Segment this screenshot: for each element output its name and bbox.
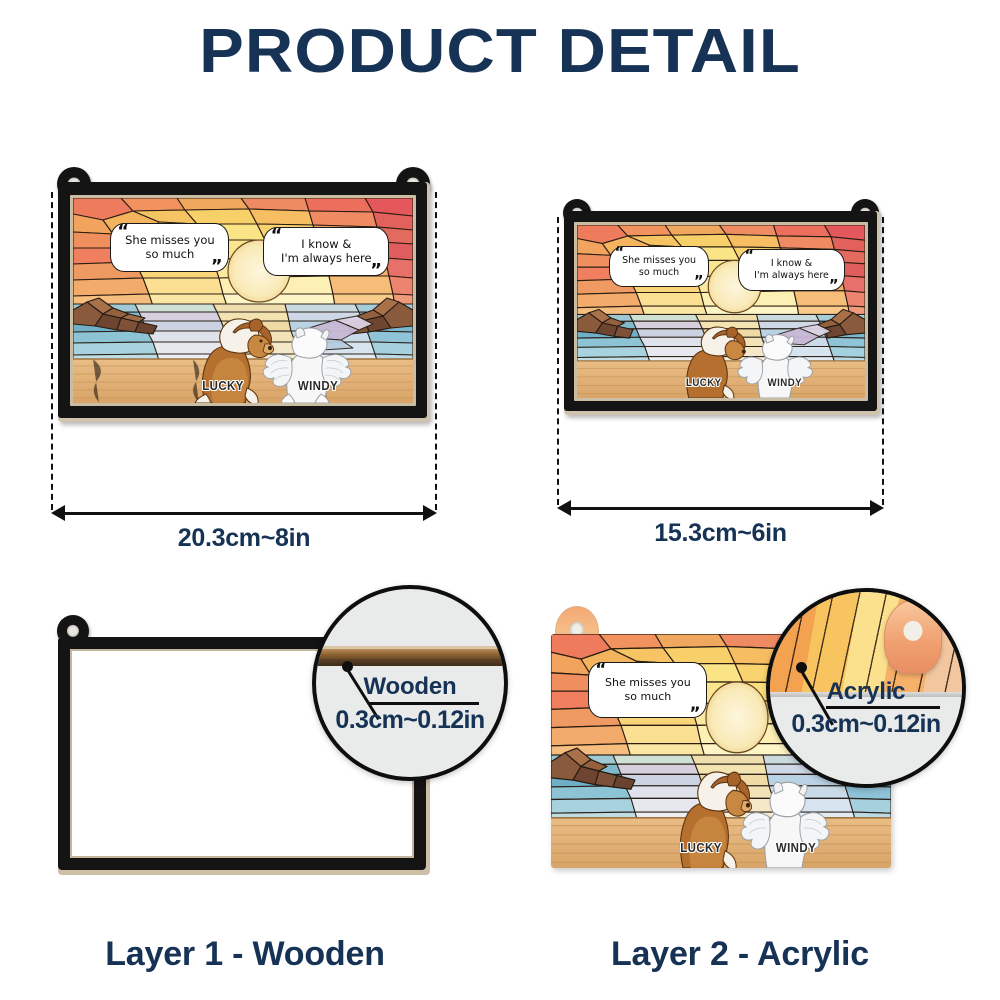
product-detail-page: PRODUCT DETAIL <box>0 0 1000 1000</box>
framed-sign-large: “ She misses you so much ” “ I know & I'… <box>58 182 430 422</box>
quote-close-right: ” <box>370 262 382 280</box>
speech-bubble-left: “ She misses you so much ” <box>110 223 229 272</box>
magnifier-acrylic-rule <box>826 706 940 709</box>
dimension-label-small: 15.3cm~6in <box>557 519 884 548</box>
quote-open-left-acrylic: “ <box>595 662 606 679</box>
speech-bubble-right-small-text: I know & I'm always here <box>748 258 835 282</box>
magnifier-acrylic-inner: Acrylic 0.3cm~0.12in <box>770 592 962 784</box>
caption-layer-1: Layer 1 - Wooden <box>60 935 430 974</box>
dimension-arrow-small: 15.3cm~6in <box>557 507 884 509</box>
caption-layer-2: Layer 2 - Acrylic <box>555 935 925 974</box>
quote-open-right-small: “ <box>744 249 754 264</box>
framed-sign-small: “ She misses you so much ” “ I know & I'… <box>564 211 880 415</box>
pet-name-lucky: LUCKY <box>193 378 253 393</box>
magnifier-wooden: Wooden 0.3cm~0.12in <box>312 585 508 781</box>
dimension-guide-left <box>51 192 53 510</box>
quote-open-right: “ <box>271 227 283 245</box>
speech-bubble-right-text: I know & I'm always here <box>274 237 379 266</box>
magnifier-wooden-inner: Wooden 0.3cm~0.12in <box>316 589 504 777</box>
magnifier-acrylic: Acrylic 0.3cm~0.12in <box>766 588 966 788</box>
quote-close-left: ” <box>211 258 223 276</box>
pet-name-windy-acrylic: WINDY <box>766 840 826 855</box>
arrow-head-left <box>51 505 65 521</box>
magnifier-wooden-label: Wooden <box>316 673 504 701</box>
quote-open-left: “ <box>117 223 129 241</box>
arrow-head-right-small <box>870 500 884 516</box>
artwork-small: “ She misses you so much ” “ I know & I'… <box>577 225 865 398</box>
dimension-guide-left-small <box>557 217 559 505</box>
magnifier-acrylic-thickness: 0.3cm~0.12in <box>770 710 962 739</box>
arrow-head-right <box>423 505 437 521</box>
dimension-label-large: 20.3cm~8in <box>51 524 437 553</box>
speech-bubble-left-small: “ She misses you so much ” <box>609 246 710 288</box>
page-title: PRODUCT DETAIL <box>0 16 1000 87</box>
magnifier-wooden-thickness-label: 0.3cm~0.12in <box>316 706 504 735</box>
speech-bubble-left-acrylic-text: She misses you so much <box>598 676 698 704</box>
magnifier-acrylic-tab <box>884 600 942 674</box>
dimension-guide-right-small <box>882 217 884 505</box>
quote-close-left-acrylic: ” <box>689 706 700 723</box>
magnifier-acrylic-label: Acrylic <box>770 678 962 706</box>
magnifier-wooden-material: Wooden <box>316 673 504 701</box>
quote-close-left-small: ” <box>694 275 704 290</box>
speech-bubble-left-text: She misses you so much <box>118 233 222 262</box>
speech-bubble-right: “ I know & I'm always here ” <box>263 227 389 276</box>
dimension-arrow-large: 20.3cm~8in <box>51 512 437 514</box>
pet-name-lucky-small: LUCKY <box>678 377 729 389</box>
quote-close-right-small: ” <box>829 279 839 294</box>
magnifier-acrylic-tab-hole <box>903 621 922 641</box>
wooden-frame-edge-shadow <box>316 646 504 649</box>
magnifier-acrylic-thickness-label: 0.3cm~0.12in <box>770 710 962 739</box>
magnifier-acrylic-material: Acrylic <box>770 678 962 706</box>
dimension-line <box>61 512 427 515</box>
artwork-large: “ She misses you so much ” “ I know & I'… <box>73 198 413 403</box>
magnifier-wooden-thickness: 0.3cm~0.12in <box>316 706 504 735</box>
pet-name-lucky-acrylic: LUCKY <box>671 840 731 855</box>
dimension-line-small <box>567 507 874 510</box>
speech-bubble-left-small-text: She misses you so much <box>616 255 702 279</box>
magnifier-wooden-rule <box>369 702 479 705</box>
quote-open-left-small: “ <box>615 246 625 261</box>
wood-thickness-strip <box>316 649 504 659</box>
speech-bubble-left-acrylic: “ She misses you so much ” <box>588 662 707 718</box>
pet-name-windy-small: WINDY <box>759 377 810 389</box>
speech-bubble-right-small: “ I know & I'm always here ” <box>738 249 845 291</box>
dimension-guide-right <box>435 192 437 510</box>
arrow-head-left-small <box>557 500 571 516</box>
pet-name-windy: WINDY <box>288 378 348 393</box>
